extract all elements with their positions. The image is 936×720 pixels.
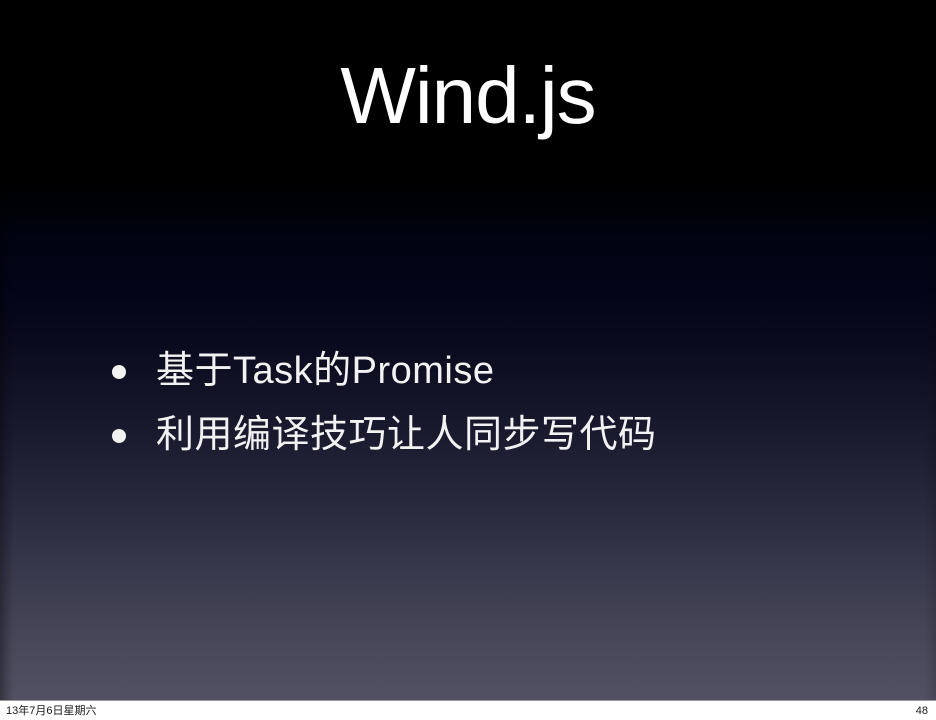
bullet-text: 利用编译技巧让人同步写代码 <box>156 412 872 458</box>
presentation-frame: Wind.js 基于Task的Promise 利用编译技巧让人同步写代码 13年… <box>0 0 936 720</box>
bullet-list: 基于Task的Promise 利用编译技巧让人同步写代码 <box>112 348 872 477</box>
slide-canvas: Wind.js 基于Task的Promise 利用编译技巧让人同步写代码 <box>0 0 936 700</box>
filled-circle-bullet-icon <box>112 429 126 443</box>
list-item: 基于Task的Promise <box>112 348 872 394</box>
slide-title: Wind.js <box>0 52 936 140</box>
filled-circle-bullet-icon <box>112 365 126 379</box>
bullet-text: 基于Task的Promise <box>156 348 872 394</box>
footer-date: 13年7月6日星期六 <box>6 704 96 718</box>
slide-footer: 13年7月6日星期六 48 <box>0 700 936 720</box>
list-item: 利用编译技巧让人同步写代码 <box>112 412 872 458</box>
footer-page-number: 48 <box>916 704 928 718</box>
